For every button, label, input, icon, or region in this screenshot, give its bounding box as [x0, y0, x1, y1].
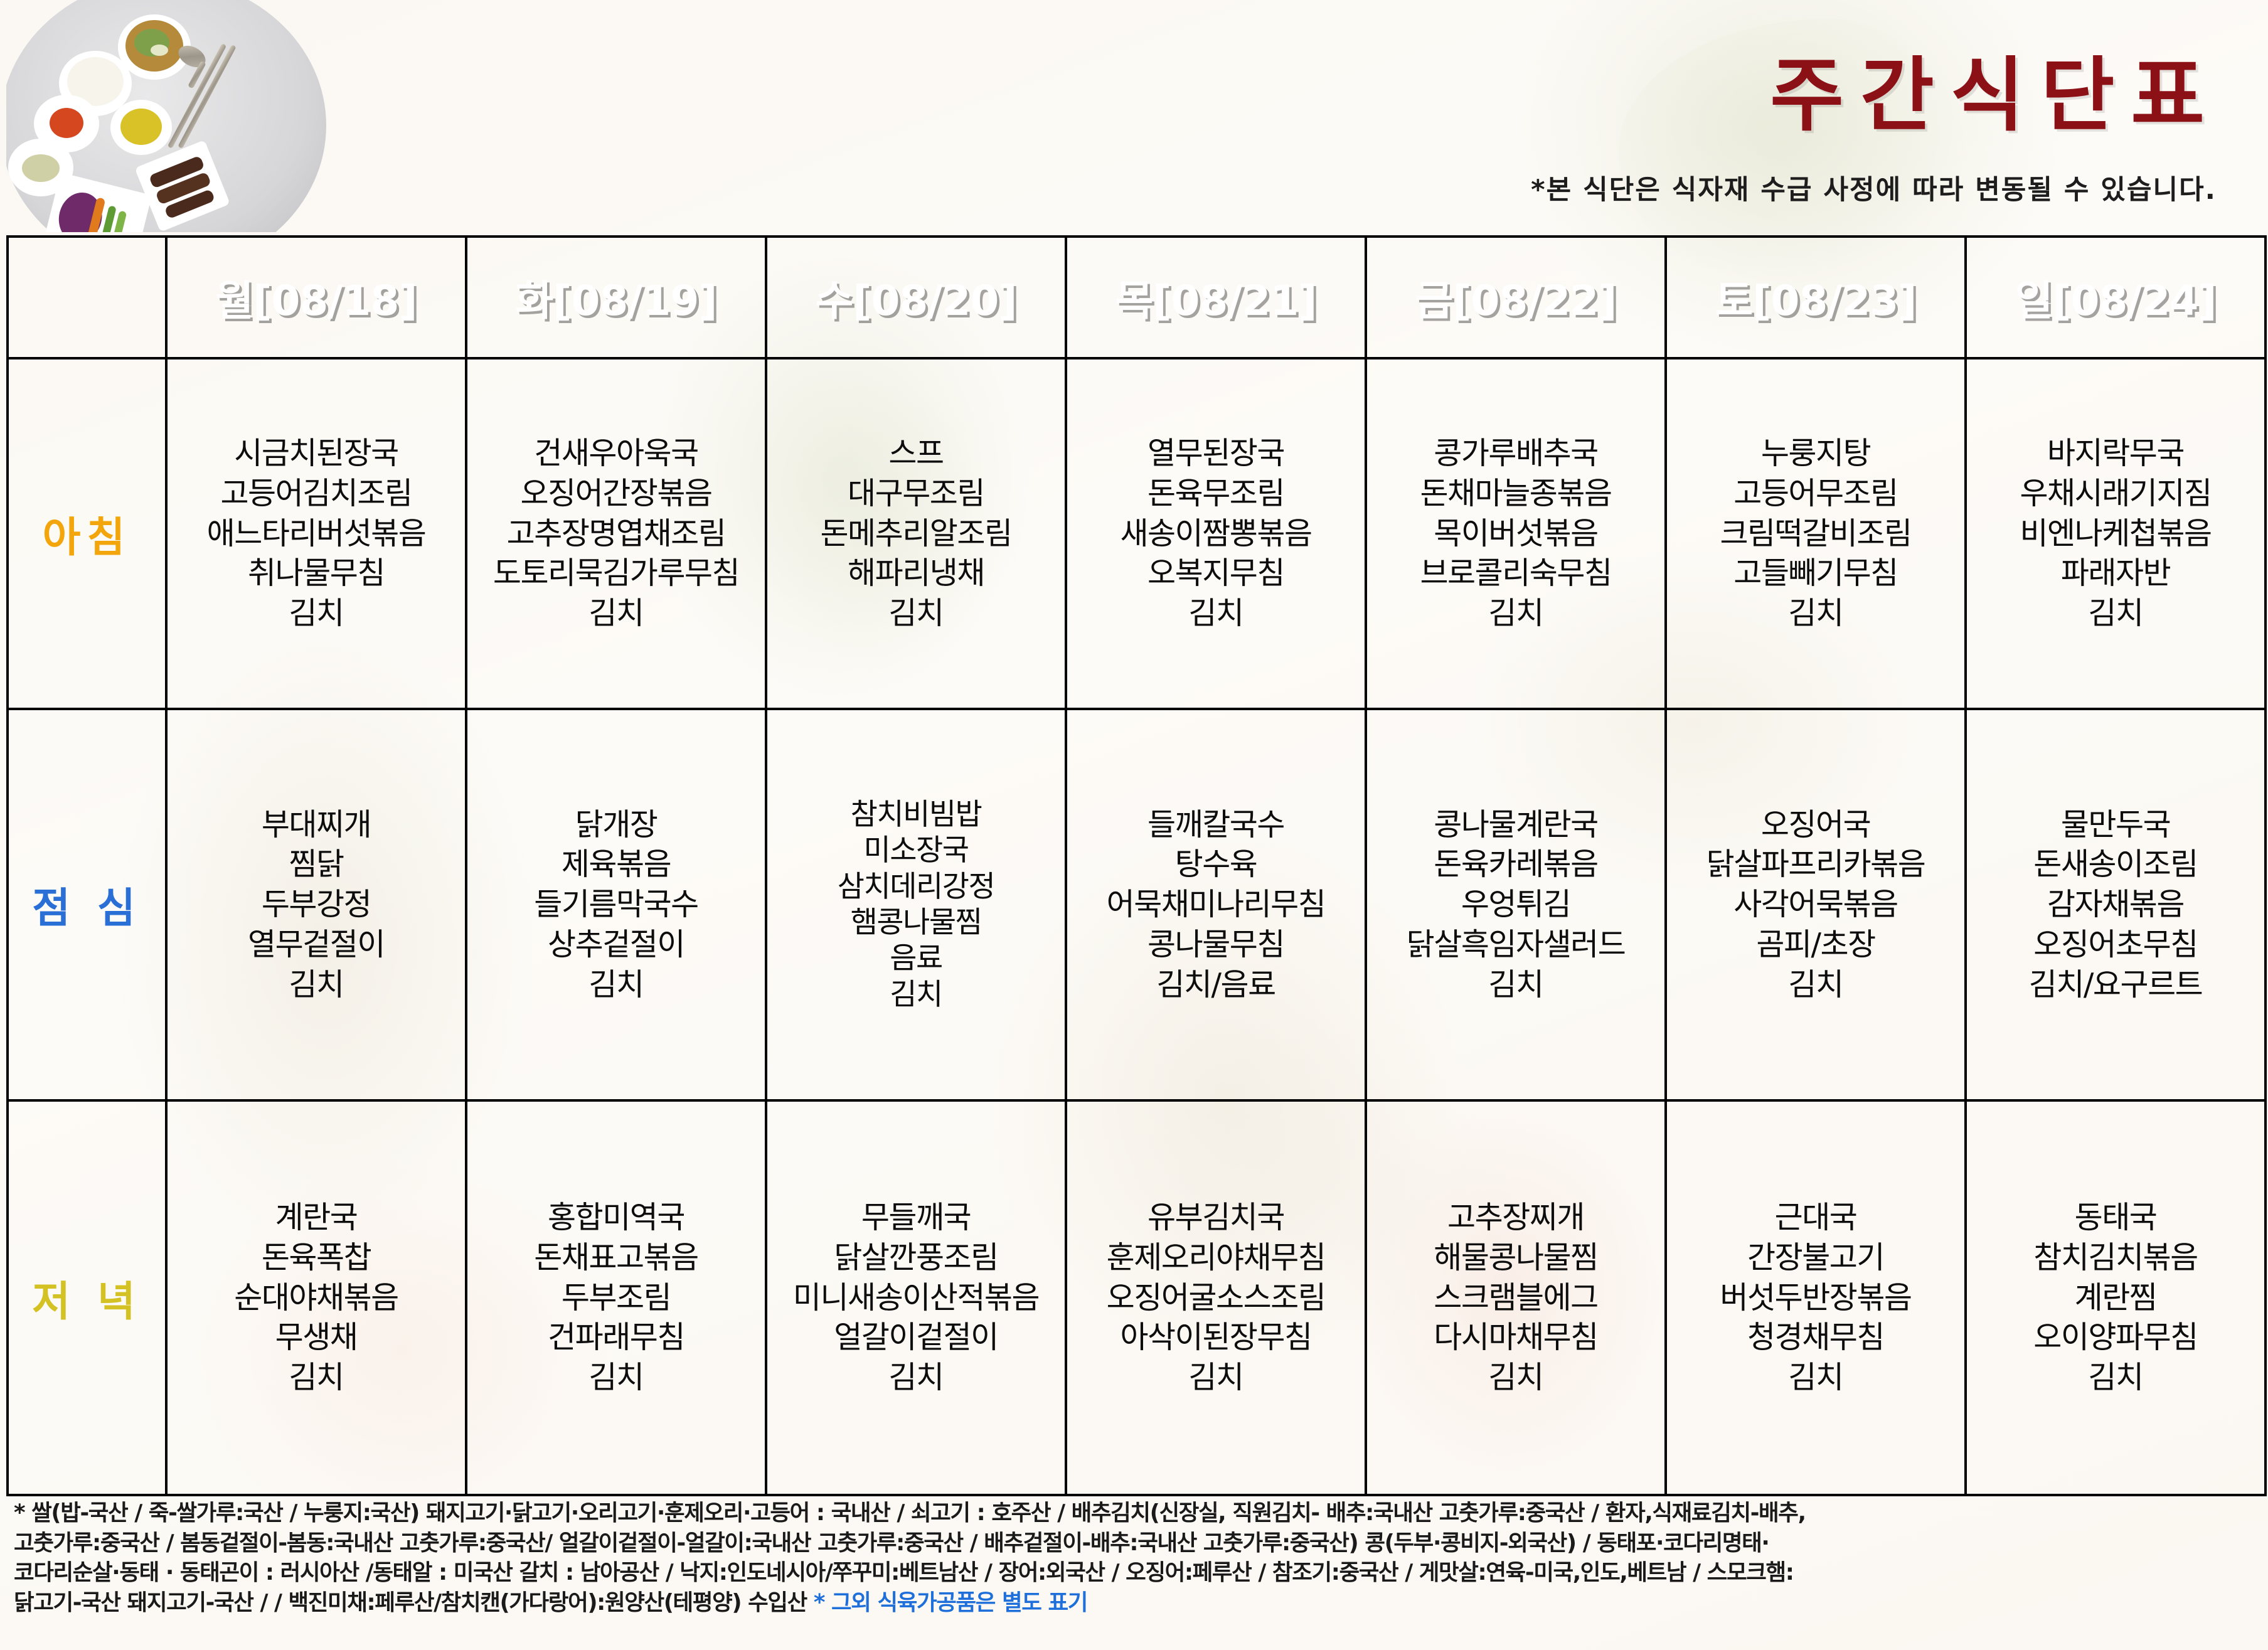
- table-corner-cell: [8, 237, 166, 358]
- dish-item: 김치: [1667, 1358, 1964, 1398]
- page-header: 주간식단표 *본 식단은 식자재 수급 사정에 따라 변동될 수 있습니다.: [0, 0, 2268, 235]
- dish-item: 콩나물계란국: [1367, 805, 1664, 845]
- dish-item: 오징어간장볶음: [467, 474, 765, 514]
- menu-cell-breakfast-mon: 시금치된장국고등어김치조림애느타리버섯볶음취나물무침김치: [166, 358, 466, 709]
- dish-item: 고추장명엽채조림: [467, 514, 765, 554]
- day-header-tue: 화[08/19]: [466, 237, 766, 358]
- dish-item: 무들깨국: [767, 1198, 1065, 1238]
- dish-item: 어묵채미나리무침: [1067, 885, 1365, 925]
- dish-item: 김치/요구르트: [1967, 965, 2264, 1005]
- dish-item: 김치: [467, 1358, 765, 1398]
- dish-item: 미소장국: [767, 833, 1065, 868]
- meal-label-breakfast: 아침: [8, 358, 166, 709]
- dish-item: 크림떡갈비조림: [1667, 514, 1964, 554]
- origin-notice-line-4: 닭고기-국산 돼지고기-국산 / / 백진미채:페루산/참치캔(가다랑어):원양…: [14, 1588, 2260, 1618]
- dish-item: 돈육무조림: [1067, 474, 1365, 514]
- origin-notice-line-4-main: 닭고기-국산 돼지고기-국산 / / 백진미채:페루산/참치캔(가다랑어):원양…: [14, 1590, 814, 1615]
- dish-item: 김치: [467, 593, 765, 634]
- menu-cell-breakfast-wed: 스프대구무조림돈메추리알조림해파리냉채김치: [766, 358, 1066, 709]
- dish-item: 비엔나케첩볶음: [1967, 514, 2264, 554]
- menu-cell-lunch-tue: 닭개장제육볶음들기름막국수상추겉절이김치: [466, 709, 766, 1100]
- dish-item: 김치: [1067, 1358, 1365, 1398]
- dish-item: 다시마채무침: [1367, 1317, 1664, 1358]
- dish-item: 우엉튀김: [1367, 885, 1664, 925]
- dish-item: 부대찌개: [168, 805, 465, 845]
- day-header-thu: 목[08/21]: [1066, 237, 1366, 358]
- dish-item: 스프: [767, 434, 1065, 474]
- dish-item: 김치: [1667, 593, 1964, 634]
- dish-item: 돈새송이조림: [1967, 844, 2264, 885]
- dish-item: 목이버섯볶음: [1367, 514, 1664, 554]
- dish-item: 김치: [767, 977, 1065, 1013]
- dish-item: 김치: [1967, 593, 2264, 634]
- menu-cell-dinner-tue: 홍합미역국돈채표고볶음두부조림건파래무침김치: [466, 1100, 766, 1495]
- dish-item: 김치: [767, 1358, 1065, 1398]
- origin-notice-highlight: * 그외 식육가공품은 별도 표기: [814, 1590, 1087, 1615]
- menu-cell-lunch-mon: 부대찌개찜닭두부강정열무겉절이김치: [166, 709, 466, 1100]
- dish-item: 근대국: [1667, 1198, 1964, 1238]
- dish-item: 콩나물무침: [1067, 925, 1365, 965]
- dish-item: 고등어김치조림: [168, 474, 465, 514]
- dish-item: 김치: [1367, 965, 1664, 1005]
- dish-item: 돈육폭찹: [168, 1238, 465, 1278]
- day-header-mon: 월[08/18]: [166, 237, 466, 358]
- meal-row-breakfast: 아침시금치된장국고등어김치조림애느타리버섯볶음취나물무침김치건새우아욱국오징어간…: [8, 358, 2265, 709]
- day-header-wed: 수[08/20]: [766, 237, 1066, 358]
- dish-item: 오이양파무침: [1967, 1317, 2264, 1358]
- menu-cell-breakfast-sun: 바지락무국우채시래기지짐비엔나케첩볶음파래자반김치: [1966, 358, 2265, 709]
- dish-item: 간장불고기: [1667, 1238, 1964, 1278]
- dish-item: 오징어굴소스조림: [1067, 1278, 1365, 1318]
- dish-item: 곰피/초장: [1667, 925, 1964, 965]
- dish-item: 닭개장: [467, 805, 765, 845]
- dish-item: 돈메추리알조림: [767, 514, 1065, 554]
- dish-item: 김치: [1367, 1358, 1664, 1398]
- dish-item: 제육볶음: [467, 844, 765, 885]
- menu-cell-lunch-sun: 물만두국돈새송이조림감자채볶음오징어초무침김치/요구르트: [1966, 709, 2265, 1100]
- dish-item: 들기름막국수: [467, 885, 765, 925]
- origin-notice: * 쌀(밥-국산 / 죽-쌀가루:국산 / 누룽지:국산) 돼지고기·닭고기·오…: [14, 1498, 2260, 1617]
- menu-cell-dinner-wed: 무들깨국닭살깐풍조림미니새송이산적볶음얼갈이겉절이김치: [766, 1100, 1066, 1495]
- dish-item: 두부강정: [168, 885, 465, 925]
- food-photo: [6, 0, 408, 232]
- dish-item: 건새우아욱국: [467, 434, 765, 474]
- menu-cell-lunch-wed: 참치비빔밥미소장국삼치데리강정햄콩나물찜음료김치: [766, 709, 1066, 1100]
- dish-item: 버섯두반장볶음: [1667, 1278, 1964, 1318]
- dish-item: 김치: [467, 965, 765, 1005]
- dish-item: 김치: [1967, 1358, 2264, 1398]
- menu-cell-breakfast-tue: 건새우아욱국오징어간장볶음고추장명엽채조림도토리묵김가루무침김치: [466, 358, 766, 709]
- dish-item: 닭살파프리카볶음: [1667, 844, 1964, 885]
- dish-item: 스크램블에그: [1367, 1278, 1664, 1318]
- menu-cell-breakfast-sat: 누룽지탕고등어무조림크림떡갈비조림고들빼기무침김치: [1666, 358, 1966, 709]
- menu-cell-dinner-thu: 유부김치국훈제오리야채무침오징어굴소스조림아삭이된장무침김치: [1066, 1100, 1366, 1495]
- dish-item: 닭살흑임자샐러드: [1367, 925, 1664, 965]
- origin-notice-line-3: 코다리순살·동태 · 동태곤이 : 러시아산 /동태알 : 미국산 갈치 : 남…: [14, 1558, 2260, 1588]
- dish-item: 김치: [168, 1358, 465, 1398]
- weekly-menu-table: 월[08/18] 화[08/19] 수[08/20] 목[08/21] 금[08…: [6, 235, 2267, 1496]
- dish-item: 삼치데리강정: [767, 869, 1065, 905]
- meal-row-dinner: 저 녁계란국돈육폭찹순대야채볶음무생채김치홍합미역국돈채표고볶음두부조림건파래무…: [8, 1100, 2265, 1495]
- origin-notice-line-2: 고춧가루:중국산 / 봄동겉절이-봄동:국내산 고춧가루:중국산/ 얼갈이겉절이…: [14, 1528, 2260, 1558]
- dish-item: 닭살깐풍조림: [767, 1238, 1065, 1278]
- menu-cell-breakfast-fri: 콩가루배추국돈채마늘종볶음목이버섯볶음브로콜리숙무침김치: [1366, 358, 1666, 709]
- dish-item: 취나물무침: [168, 553, 465, 593]
- dish-item: 오복지무침: [1067, 553, 1365, 593]
- dish-item: 미니새송이산적볶음: [767, 1278, 1065, 1318]
- dish-item: 상추겉절이: [467, 925, 765, 965]
- menu-cell-dinner-sun: 동태국참치김치볶음계란찜오이양파무침김치: [1966, 1100, 2265, 1495]
- dish-item: 무생채: [168, 1317, 465, 1358]
- dish-item: 김치: [1367, 593, 1664, 634]
- dish-item: 해파리냉채: [767, 553, 1065, 593]
- dish-item: 고등어무조림: [1667, 474, 1964, 514]
- dish-item: 유부김치국: [1067, 1198, 1365, 1238]
- dish-item: 참치김치볶음: [1967, 1238, 2264, 1278]
- dish-item: 김치: [767, 593, 1065, 634]
- meal-row-lunch: 점 심부대찌개찜닭두부강정열무겉절이김치닭개장제육볶음들기름막국수상추겉절이김치…: [8, 709, 2265, 1100]
- menu-cell-lunch-sat: 오징어국닭살파프리카볶음사각어묵볶음곰피/초장김치: [1666, 709, 1966, 1100]
- dish-item: 바지락무국: [1967, 434, 2264, 474]
- dish-item: 해물콩나물찜: [1367, 1238, 1664, 1278]
- dish-item: 동태국: [1967, 1198, 2264, 1238]
- dish-item: 김치: [168, 593, 465, 634]
- menu-cell-lunch-fri: 콩나물계란국돈육카레볶음우엉튀김닭살흑임자샐러드김치: [1366, 709, 1666, 1100]
- dish-item: 건파래무침: [467, 1317, 765, 1358]
- dish-item: 순대야채볶음: [168, 1278, 465, 1318]
- dish-item: 김치: [168, 965, 465, 1005]
- dish-item: 우채시래기지짐: [1967, 474, 2264, 514]
- dish-item: 돈채표고볶음: [467, 1238, 765, 1278]
- dish-item: 김치: [1067, 593, 1365, 634]
- dish-item: 새송이짬뽕볶음: [1067, 514, 1365, 554]
- dish-item: 들깨칼국수: [1067, 805, 1365, 845]
- dish-item: 시금치된장국: [168, 434, 465, 474]
- dish-item: 감자채볶음: [1967, 885, 2264, 925]
- dish-item: 참치비빔밥: [767, 797, 1065, 833]
- dish-item: 찜닭: [168, 844, 465, 885]
- page-subtitle: *본 식단은 식자재 수급 사정에 따라 변동될 수 있습니다.: [1531, 168, 2217, 207]
- meal-label-dinner: 저 녁: [8, 1100, 166, 1495]
- dish-item: 오징어초무침: [1967, 925, 2264, 965]
- dish-item: 브로콜리숙무침: [1367, 553, 1664, 593]
- dish-item: 파래자반: [1967, 553, 2264, 593]
- menu-cell-dinner-sat: 근대국간장불고기버섯두반장볶음청경채무침김치: [1666, 1100, 1966, 1495]
- dish-item: 사각어묵볶음: [1667, 885, 1964, 925]
- dish-item: 돈육카레볶음: [1367, 844, 1664, 885]
- dish-item: 애느타리버섯볶음: [168, 514, 465, 554]
- day-header-sat: 토[08/23]: [1666, 237, 1966, 358]
- dish-item: 햄콩나물찜: [767, 905, 1065, 940]
- dish-item: 열무된장국: [1067, 434, 1365, 474]
- menu-cell-lunch-thu: 들깨칼국수탕수육어묵채미나리무침콩나물무침김치/음료: [1066, 709, 1366, 1100]
- dish-item: 콩가루배추국: [1367, 434, 1664, 474]
- dish-item: 물만두국: [1967, 805, 2264, 845]
- page-title: 주간식단표: [1770, 30, 2221, 146]
- dish-item: 계란국: [168, 1198, 465, 1238]
- dish-item: 음료: [767, 940, 1065, 976]
- dish-item: 도토리묵김가루무침: [467, 553, 765, 593]
- dish-item: 홍합미역국: [467, 1198, 765, 1238]
- dish-item: 탕수육: [1067, 844, 1365, 885]
- dish-item: 열무겉절이: [168, 925, 465, 965]
- dish-item: 오징어국: [1667, 805, 1964, 845]
- dish-item: 아삭이된장무침: [1067, 1317, 1365, 1358]
- table-header-row: 월[08/18] 화[08/19] 수[08/20] 목[08/21] 금[08…: [8, 237, 2265, 358]
- menu-body: 아침시금치된장국고등어김치조림애느타리버섯볶음취나물무침김치건새우아욱국오징어간…: [8, 358, 2265, 1495]
- menu-cell-breakfast-thu: 열무된장국돈육무조림새송이짬뽕볶음오복지무침김치: [1066, 358, 1366, 709]
- menu-cell-dinner-mon: 계란국돈육폭찹순대야채볶음무생채김치: [166, 1100, 466, 1495]
- dish-item: 누룽지탕: [1667, 434, 1964, 474]
- day-header-fri: 금[08/22]: [1366, 237, 1666, 358]
- dish-item: 돈채마늘종볶음: [1367, 474, 1664, 514]
- dish-item: 고들빼기무침: [1667, 553, 1964, 593]
- origin-notice-line-1: * 쌀(밥-국산 / 죽-쌀가루:국산 / 누룽지:국산) 돼지고기·닭고기·오…: [14, 1498, 2260, 1528]
- dish-item: 두부조림: [467, 1278, 765, 1318]
- dish-item: 김치: [1667, 965, 1964, 1005]
- dish-item: 얼갈이겉절이: [767, 1317, 1065, 1358]
- dish-item: 김치/음료: [1067, 965, 1365, 1005]
- dish-item: 청경채무침: [1667, 1317, 1964, 1358]
- menu-cell-dinner-fri: 고추장찌개해물콩나물찜스크램블에그다시마채무침김치: [1366, 1100, 1666, 1495]
- dish-item: 계란찜: [1967, 1278, 2264, 1318]
- dish-item: 훈제오리야채무침: [1067, 1238, 1365, 1278]
- day-header-sun: 일[08/24]: [1966, 237, 2265, 358]
- dish-item: 고추장찌개: [1367, 1198, 1664, 1238]
- dish-item: 대구무조림: [767, 474, 1065, 514]
- meal-label-lunch: 점 심: [8, 709, 166, 1100]
